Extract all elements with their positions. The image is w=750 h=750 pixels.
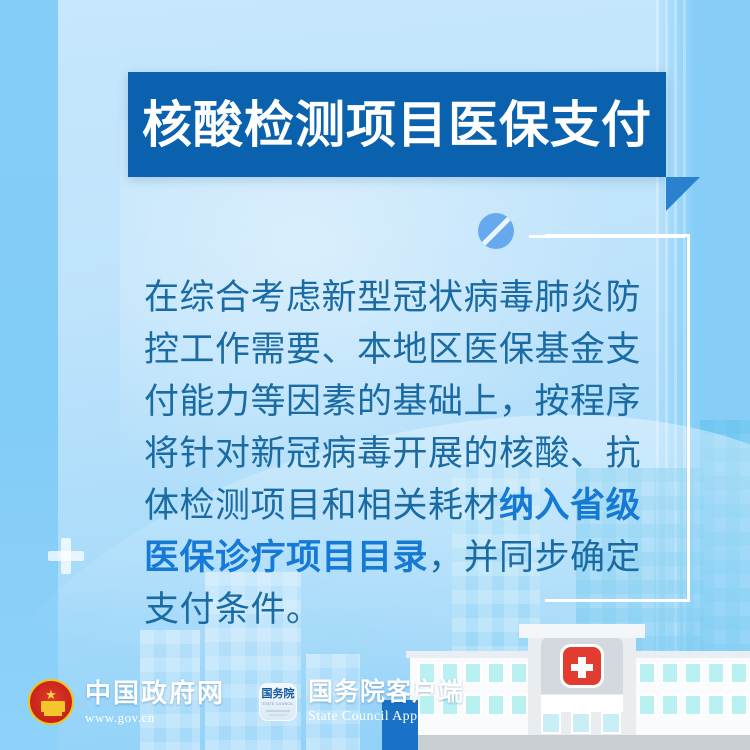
pill-capsule-icon: [478, 213, 514, 249]
hospital-window: [510, 662, 528, 684]
hospital-window: [684, 694, 702, 716]
state-council-app-icon[interactable]: 国务院 STATE COUNCIL: [259, 683, 297, 721]
title-banner: 核酸检测项目医保支付: [128, 72, 666, 177]
emblem-gate-icon: [41, 701, 65, 712]
hospital-entrance-door: [541, 712, 561, 734]
app-icon-sublabel: STATE COUNCIL: [262, 702, 293, 707]
hospital-window: [464, 662, 482, 684]
app-icon-bar: [266, 710, 290, 712]
hospital-window: [510, 694, 528, 716]
gov-site-name: 中国政府网: [85, 680, 225, 706]
hospital-name-board: [541, 695, 623, 712]
hospital-entrance-door: [601, 712, 621, 734]
hospital-window: [487, 694, 505, 716]
hospital-window: [487, 662, 505, 684]
footer-branding: ★ 中国政府网 www.gov.cn 国务院 STATE COUNCIL 国务院…: [28, 676, 464, 728]
hospital-entrance-door: [571, 712, 591, 734]
hospital-roof-cap: [519, 624, 645, 638]
plus-sign-decoration: [48, 538, 84, 574]
gov-site-url: www.gov.cn: [85, 711, 225, 724]
hospital-window: [730, 662, 748, 684]
banner-fold-triangle: [666, 177, 700, 211]
app-icon-bar: [269, 714, 287, 716]
hospital-window: [730, 694, 748, 716]
hospital-window: [638, 694, 656, 716]
app-name-en: State Council App: [308, 710, 464, 724]
hospital-plinth: [406, 735, 750, 750]
china-national-emblem: ★: [28, 679, 74, 725]
hospital-left-roofline: [406, 651, 536, 658]
hospital-window: [707, 662, 725, 684]
hospital-window: [464, 694, 482, 716]
hospital-window: [638, 662, 656, 684]
body-paragraph: 在综合考虑新型冠状病毒肺炎防控工作需要、本地区医保基金支付能力等因素的基础上，按…: [144, 272, 654, 636]
emblem-star-icon: ★: [45, 688, 57, 701]
page-title: 核酸检测项目医保支付: [142, 100, 652, 150]
hospital-window: [661, 694, 679, 716]
hospital-right-roofline: [630, 651, 750, 658]
hospital-window: [707, 694, 725, 716]
hospital-window: [661, 662, 679, 684]
gov-brand-text: 中国政府网 www.gov.cn: [85, 680, 225, 724]
infographic-poster: 核酸检测项目医保支付 在综合考虑新型冠状病毒肺炎防控工作需要、本地区医保基金支付…: [0, 0, 750, 750]
app-icon-label: 国务院: [262, 689, 295, 700]
red-cross-sign: [560, 644, 604, 688]
app-brand-text: 国务院客户端 State Council App: [308, 680, 464, 724]
hospital-window: [684, 662, 702, 684]
app-name-cn: 国务院客户端: [308, 680, 464, 705]
